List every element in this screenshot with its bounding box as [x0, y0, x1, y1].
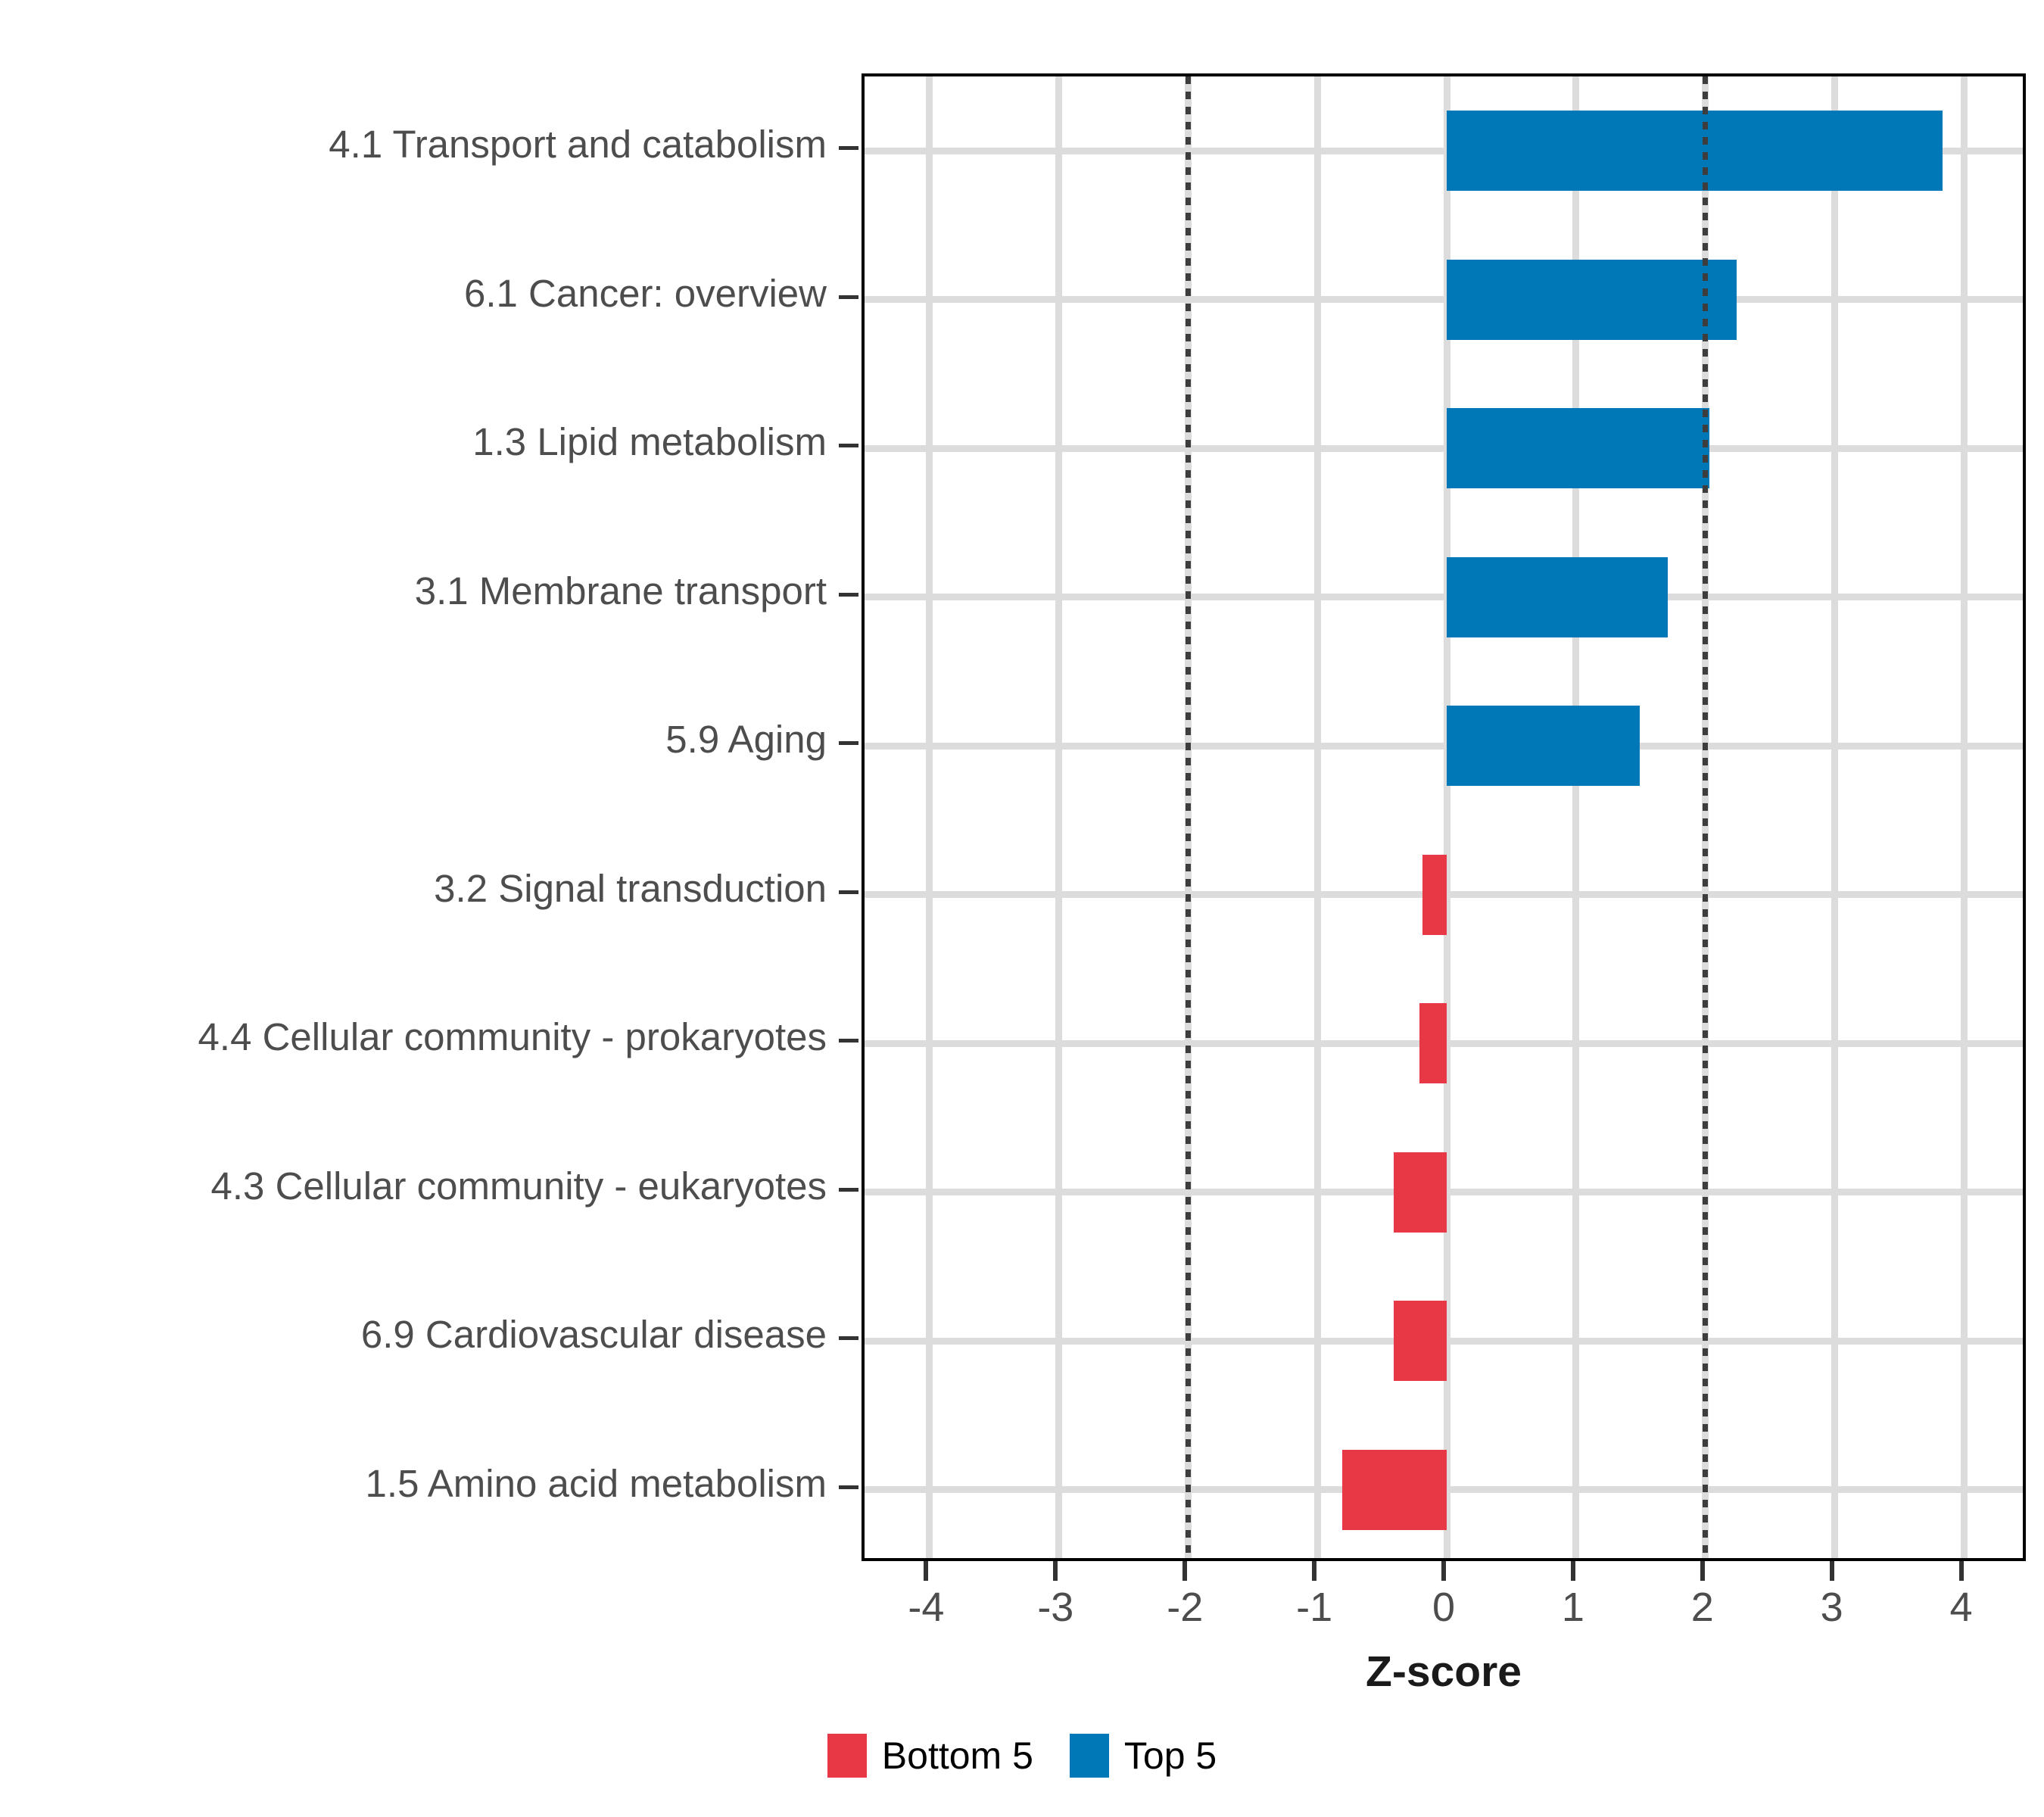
x-axis-tick	[924, 1561, 928, 1581]
x-axis-tick-label: -1	[1296, 1587, 1332, 1628]
y-axis-tick-label: 3.1 Membrane transport	[0, 572, 827, 610]
y-axis-tick	[839, 593, 858, 597]
gridline-horizontal	[865, 743, 2023, 750]
y-axis-tick-label: 6.9 Cardiovascular disease	[0, 1315, 827, 1354]
x-axis-tick	[1441, 1561, 1446, 1581]
y-axis-tick-label: 5.9 Aging	[0, 720, 827, 759]
y-axis-tick	[839, 741, 858, 745]
y-axis-tick	[839, 295, 858, 299]
y-axis-tick-label: 3.2 Signal transduction	[0, 869, 827, 908]
x-axis-tick	[1959, 1561, 1964, 1581]
y-axis-tick	[839, 1188, 858, 1192]
legend-label: Bottom 5	[882, 1737, 1033, 1775]
x-axis-tick-label: -4	[908, 1587, 944, 1628]
x-axis-tick-label: 3	[1821, 1587, 1843, 1628]
y-axis-tick	[839, 890, 858, 894]
gridline-horizontal	[865, 296, 2023, 303]
y-axis-tick-label: 4.3 Cellular community - eukaryotes	[0, 1167, 827, 1205]
x-axis-tick-label: -3	[1037, 1587, 1073, 1628]
threshold-line	[1186, 76, 1191, 1558]
y-axis-tick	[839, 1039, 858, 1043]
gridline-horizontal	[865, 594, 2023, 600]
x-axis-tick-label: 4	[1950, 1587, 1973, 1628]
legend-swatch-icon	[827, 1734, 867, 1778]
x-axis-tick	[1053, 1561, 1058, 1581]
y-axis-tick	[839, 1485, 858, 1489]
gridline-horizontal	[865, 445, 2023, 452]
x-axis-title: Z-score	[862, 1650, 2026, 1694]
z-score-bar-chart: 4.1 Transport and catabolism6.1 Cancer: …	[0, 0, 2044, 1817]
bar	[1394, 1301, 1447, 1381]
bar	[1419, 1003, 1447, 1083]
legend-item[interactable]: Bottom 5	[827, 1734, 1033, 1778]
x-axis-tick-label: 2	[1691, 1587, 1714, 1628]
legend-label: Top 5	[1124, 1737, 1217, 1775]
y-axis-tick	[839, 444, 858, 447]
bar	[1447, 111, 1943, 191]
chart-legend: Bottom 5Top 5	[0, 1734, 2044, 1778]
y-axis-tick	[839, 146, 858, 150]
plot-panel	[862, 73, 2026, 1561]
bar	[1342, 1450, 1447, 1530]
bar	[1447, 706, 1640, 786]
x-axis-tick	[1830, 1561, 1834, 1581]
legend-item[interactable]: Top 5	[1070, 1734, 1217, 1778]
x-axis-tick-label: -2	[1167, 1587, 1203, 1628]
x-axis-tick-label: 1	[1562, 1587, 1584, 1628]
bar	[1422, 855, 1447, 935]
x-axis-tick	[1312, 1561, 1316, 1581]
y-axis-tick-label: 1.3 Lipid metabolism	[0, 422, 827, 461]
y-axis-tick-label: 6.1 Cancer: overview	[0, 274, 827, 313]
x-axis-tick-label: 0	[1432, 1587, 1455, 1628]
bar	[1447, 260, 1737, 340]
y-axis-tick	[839, 1336, 858, 1340]
y-axis-tick-label: 4.1 Transport and catabolism	[0, 125, 827, 164]
y-axis-tick-label: 1.5 Amino acid metabolism	[0, 1464, 827, 1503]
legend-swatch-icon	[1070, 1734, 1109, 1778]
bar	[1447, 557, 1668, 637]
bar	[1447, 408, 1709, 488]
bar	[1394, 1152, 1447, 1233]
x-axis-tick	[1571, 1561, 1575, 1581]
x-axis-tick	[1700, 1561, 1705, 1581]
y-axis-tick-label: 4.4 Cellular community - prokaryotes	[0, 1018, 827, 1056]
x-axis-tick	[1182, 1561, 1187, 1581]
threshold-line	[1703, 76, 1708, 1558]
